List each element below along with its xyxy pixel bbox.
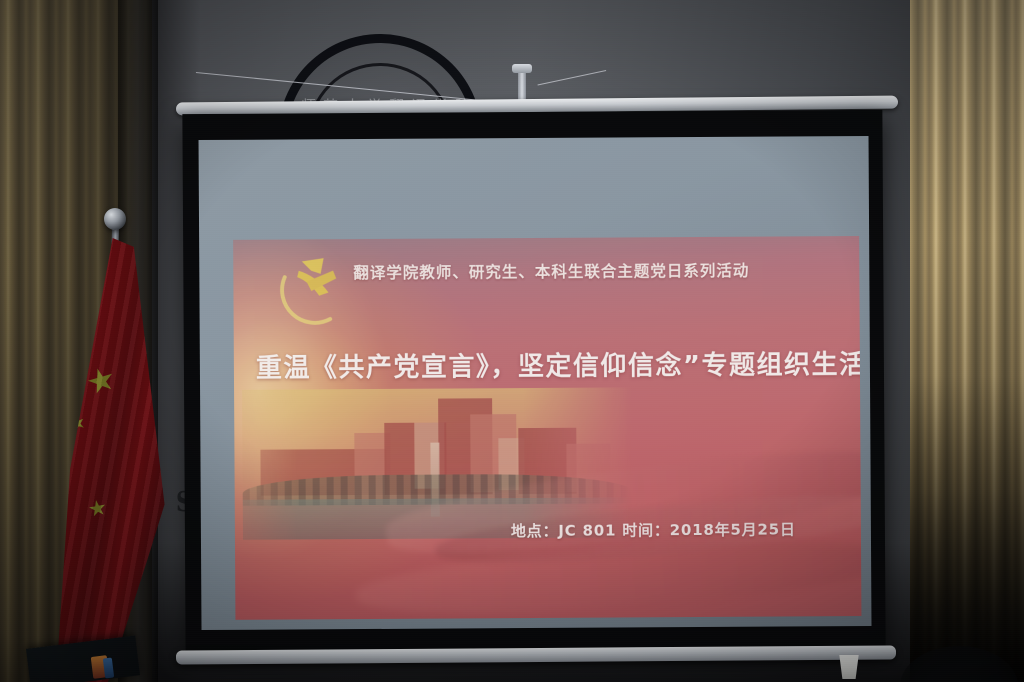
slide-title: 重温《共产党宣言》，坚定信仰信念”专题组织生活会: [256, 344, 860, 385]
projection-screen-frame: 翻译学院教师、研究生、本科生联合主题党日系列活动 重温《共产党宣言》，坚定信仰信…: [182, 110, 885, 652]
screen-hook-icon: [518, 68, 526, 102]
screen-hook-head-icon: [512, 64, 532, 73]
flag-pole-finial: [104, 208, 126, 230]
projected-slide: 翻译学院教师、研究生、本科生联合主题党日系列活动 重温《共产党宣言》，坚定信仰信…: [233, 236, 861, 620]
curtain-right: [900, 0, 1024, 682]
curtain-right-shading: [900, 0, 1024, 682]
slide-subtitle: 翻译学院教师、研究生、本科生联合主题党日系列活动: [353, 258, 853, 283]
photo-scene: 师范大学翻译学院 S: [0, 0, 1024, 682]
projection-screen-surface: 翻译学院教师、研究生、本科生联合主题党日系列活动 重温《共产党宣言》，坚定信仰信…: [199, 136, 872, 630]
ccp-hammer-sickle-emblem-icon: [275, 247, 353, 325]
slide-footer: 地点：JC 801 时间：2018年5月25日: [511, 518, 796, 541]
